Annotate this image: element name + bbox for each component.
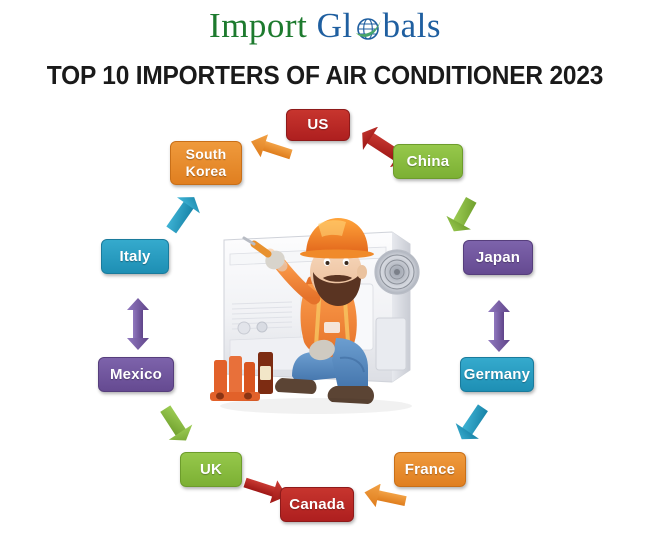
node-japan[interactable]: Japan [463,240,533,275]
infographic-canvas: Import Gl bals TOP 10 IMPORTERS OF AIR C… [0,0,650,550]
node-mexico-label: Mexico [110,367,162,383]
node-germany[interactable]: Germany [460,357,534,392]
node-italy[interactable]: Italy [101,239,169,274]
arrow-uk-to-mexico [152,398,196,446]
node-china[interactable]: China [393,144,463,179]
node-france[interactable]: France [394,452,466,487]
node-uk[interactable]: UK [180,452,242,487]
node-uk-label: UK [200,462,222,478]
arrow-germany-to-france [452,396,496,446]
brand-logo: Import Gl bals [0,6,650,46]
hvac-technician-icon [196,210,446,435]
node-south-korea[interactable]: South Korea [170,141,242,185]
node-south-korea-label-line1: South [186,146,227,164]
brand-name-part2-post: bals [383,6,441,45]
node-china-label: China [407,154,450,170]
node-us-label: US [307,117,328,133]
node-italy-label: Italy [119,249,150,265]
brand-name-part1: Import [209,6,307,45]
arrow-japan-to-germany [488,300,510,352]
node-us[interactable]: US [286,109,350,141]
node-mexico[interactable]: Mexico [98,357,174,392]
node-south-korea-label-line2: Korea [186,163,227,181]
brand-name-part2-pre: Gl [317,6,353,45]
page-title: TOP 10 IMPORTERS OF AIR CONDITIONER 2023 [13,62,637,91]
node-canada-label: Canada [289,497,344,513]
arrow-mexico-to-italy [127,298,149,350]
arrow-france-to-canada [362,484,410,510]
arrow-china-to-japan [443,190,485,236]
node-japan-label: Japan [476,250,520,266]
node-canada[interactable]: Canada [280,487,354,522]
globe-icon [353,12,383,42]
node-france-label: France [405,462,455,478]
node-germany-label: Germany [464,367,530,383]
